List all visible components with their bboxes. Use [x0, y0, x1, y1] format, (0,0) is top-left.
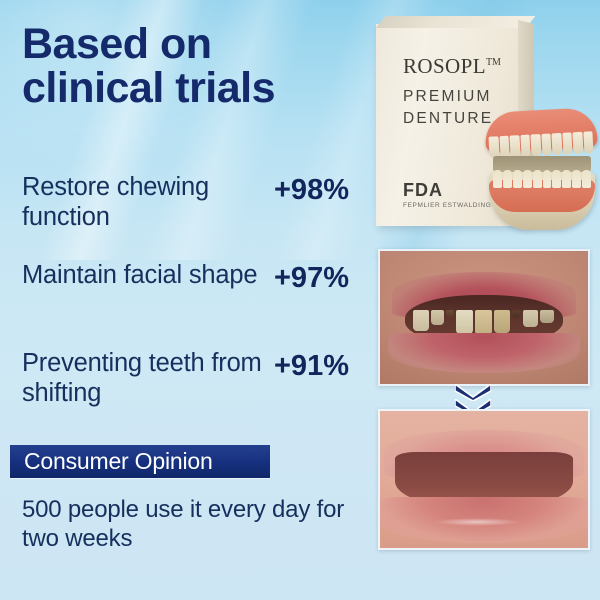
- before-photo-vignette: [380, 251, 588, 384]
- after-photo: [378, 409, 590, 550]
- benefit-percent: +91%: [274, 350, 349, 383]
- trademark-symbol: TM: [486, 57, 501, 68]
- benefit-label: Maintain facial shape: [22, 260, 267, 290]
- benefit-row: Preventing teeth from shifting +91%: [22, 348, 372, 436]
- headline-line-2: clinical trials: [22, 66, 362, 110]
- consumer-opinion-label: Consumer Opinion: [24, 448, 213, 475]
- certification-subtext: FEPMLIER ESTWALDING: [403, 202, 491, 209]
- benefit-label: Restore chewing function: [22, 172, 267, 232]
- headline-line-1: Based on: [22, 22, 362, 66]
- benefit-label: Preventing teeth from shifting: [22, 348, 267, 408]
- certification-label: FDA: [403, 180, 443, 201]
- benefit-percent: +98%: [274, 174, 349, 207]
- product-photo: ROSOPLTM PREMIUM DENTURE FDA FEPMLIER ES…: [373, 16, 600, 238]
- product-brand: ROSOPLTM: [403, 54, 533, 79]
- advertisement-poster: Based on clinical trials Restore chewing…: [0, 0, 600, 600]
- denture-model-icon: [483, 106, 600, 234]
- denture-lower-teeth: [493, 170, 591, 188]
- product-box-top-face: [376, 16, 535, 28]
- benefit-row: Maintain facial shape +97%: [22, 260, 372, 348]
- product-brand-text: ROSOPL: [403, 54, 486, 78]
- denture-upper-teeth: [488, 131, 593, 158]
- after-lip-highlight: [434, 518, 521, 526]
- before-photo: [378, 249, 590, 386]
- product-type-line-1: PREMIUM: [403, 86, 533, 108]
- consumer-opinion-banner: Consumer Opinion: [10, 445, 270, 478]
- consumer-opinion-detail: 500 people use it every day for two week…: [22, 495, 352, 553]
- page-title: Based on clinical trials: [22, 22, 362, 110]
- benefit-percent: +97%: [274, 262, 349, 295]
- benefit-row: Restore chewing function +98%: [22, 172, 372, 260]
- after-upper-teeth: [399, 458, 570, 490]
- benefits-list: Restore chewing function +98% Maintain f…: [22, 172, 372, 436]
